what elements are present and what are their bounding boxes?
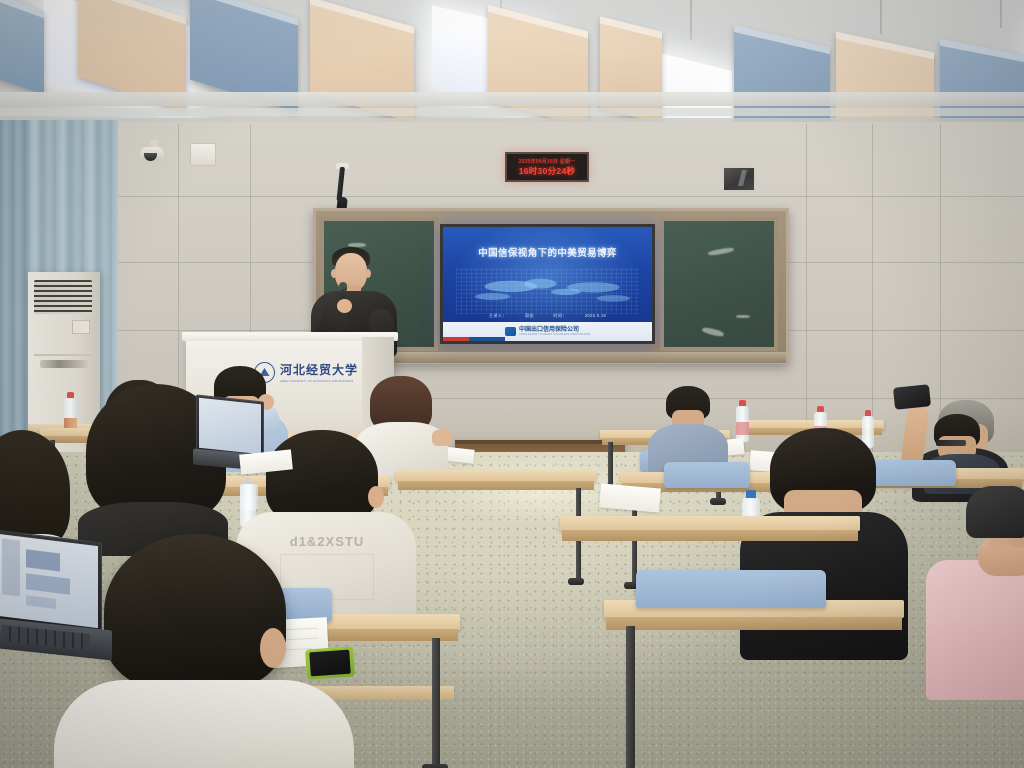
slide-presenter-name: 郭旭 (525, 313, 534, 318)
projection-screen: 中国信保视角下的中美贸易博弈 主讲人：郭旭 时间：2025.5.16 中国出口信… (440, 224, 655, 344)
eyeglasses (936, 440, 966, 446)
slide-meta: 主讲人：郭旭 时间：2025.5.16 (443, 313, 652, 319)
led-date: 2025年05月16日 星期一 (519, 158, 576, 165)
led-clock-display: 2025年05月16日 星期一 16时30分24秒 (505, 152, 589, 182)
panel-hanger (690, 0, 692, 40)
ac-control-strip[interactable] (40, 360, 88, 368)
wall-tile-line (872, 124, 873, 452)
slide-title: 中国信保视角下的中美贸易博弈 (443, 245, 652, 259)
ac-seam (34, 354, 92, 356)
paper-sheet[interactable] (599, 483, 661, 512)
ceiling-duct (0, 92, 1024, 106)
blackboard-right (660, 217, 778, 351)
lecture-hall-photo: 2025年05月16日 星期一 16时30分24秒 中国信保视角下的中美贸易博弈… (0, 0, 1024, 768)
slide-date-label: 时间： (553, 313, 566, 318)
ceiling (0, 0, 1024, 130)
window-curtain-fold (0, 120, 30, 450)
world-map-graphic (456, 268, 640, 314)
university-name-cn: 河北经贸大学 (280, 361, 358, 378)
chair-back[interactable] (664, 462, 750, 488)
panel-hanger (880, 0, 882, 34)
ac-vent-grille (34, 280, 92, 314)
desk-midground-right (560, 516, 860, 636)
ceiling-duct-secondary (0, 108, 1024, 116)
panel-hanger (1000, 0, 1002, 28)
attendee-pink-shirt (926, 520, 1024, 700)
sinosure-logo-icon (505, 327, 516, 336)
slide-date-value: 2025.5.16 (585, 313, 606, 318)
open-laptop-foreground[interactable] (0, 536, 110, 662)
attendee-dark-jacket (966, 486, 1024, 538)
footer-accent-blue (469, 337, 505, 341)
wall-speaker (722, 166, 756, 192)
org-name-en: CHINA EXPORT & CREDIT INSURANCE CORPORAT… (519, 333, 590, 336)
smartphone[interactable] (893, 384, 931, 410)
slide-footer-logo-bar: 中国出口信用保险公司 CHINA EXPORT & CREDIT INSURAN… (443, 322, 652, 341)
drinking-glass[interactable] (240, 484, 258, 510)
presenter-hand (337, 299, 352, 313)
presentation-slide: 中国信保视角下的中美贸易博弈 主讲人：郭旭 时间：2025.5.16 中国出口信… (443, 227, 652, 341)
wall-panel-box (190, 143, 216, 166)
university-name-en: HEBEI UNIVERSITY OF ECONOMICS AND BUSINE… (280, 380, 358, 383)
ac-display-panel[interactable] (72, 320, 90, 334)
wall-tile-line (806, 124, 807, 452)
acoustic-panel (0, 0, 44, 95)
footer-accent-red (443, 337, 469, 341)
ear (260, 628, 286, 668)
dome-security-camera (140, 140, 166, 162)
wall-tile-line (110, 196, 1024, 197)
slide-presenter-label: 主讲人： (489, 313, 507, 318)
led-time: 16时30分24秒 (519, 165, 576, 177)
